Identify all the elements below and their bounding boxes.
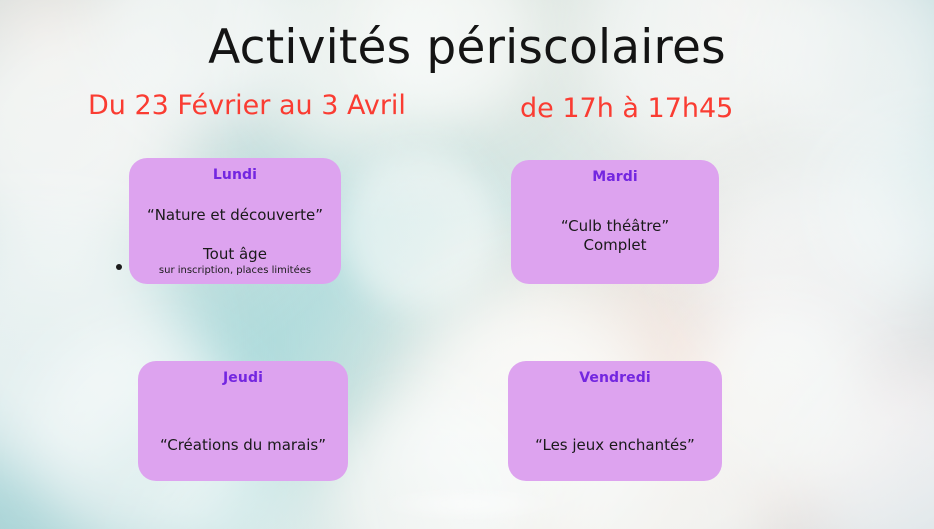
- card-activity-name: “Nature et découverte”: [139, 206, 331, 224]
- card-day-label: Lundi: [139, 167, 331, 183]
- activity-card-jeudi[interactable]: Jeudi “Créations du marais”: [138, 361, 348, 481]
- page-title: Activités périscolaires: [0, 21, 934, 75]
- bullet-marker: [116, 264, 122, 270]
- card-activity-name: “Les jeux enchantés”: [518, 436, 712, 454]
- card-day-label: Mardi: [521, 169, 709, 185]
- activity-card-lundi[interactable]: Lundi “Nature et découverte” Tout âge su…: [129, 158, 341, 284]
- card-registration-note: sur inscription, places limitées: [139, 265, 331, 277]
- card-age-label: Tout âge: [139, 246, 331, 263]
- date-range-label: Du 23 Février au 3 Avril: [88, 90, 406, 121]
- card-day-label: Vendredi: [518, 370, 712, 386]
- activity-card-mardi[interactable]: Mardi “Culb théâtre” Complet: [511, 160, 719, 284]
- background-watermark: [374, 487, 564, 521]
- time-range-label: de 17h à 17h45: [520, 93, 733, 124]
- card-activity-name: “Culb théâtre”: [521, 217, 709, 235]
- activity-card-vendredi[interactable]: Vendredi “Les jeux enchantés”: [508, 361, 722, 481]
- card-status-label: Complet: [521, 236, 709, 254]
- slide-root: Activités périscolaires Du 23 Février au…: [0, 0, 934, 529]
- card-activity-name: “Créations du marais”: [148, 436, 338, 454]
- card-day-label: Jeudi: [148, 370, 338, 386]
